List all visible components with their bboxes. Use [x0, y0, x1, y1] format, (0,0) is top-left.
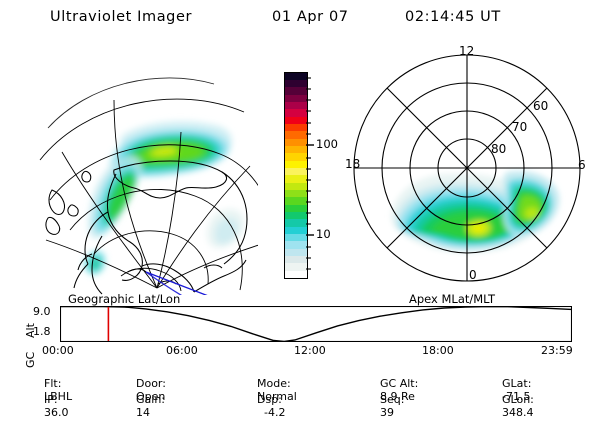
status-dsp: Dsp: -4.2	[243, 380, 285, 432]
mlt-label-18: 18	[345, 157, 360, 171]
colorbar-band-9	[285, 205, 307, 212]
colorbar-band-2	[285, 256, 307, 263]
colorbar-band-16	[285, 153, 307, 160]
colorbar-band-7	[285, 219, 307, 226]
colorbar-band-17	[285, 146, 307, 153]
colorbar-band-27	[285, 73, 307, 80]
colorbar-band-10	[285, 197, 307, 204]
colorbar-band-11	[285, 190, 307, 197]
header-date: 01 Apr 07	[272, 9, 349, 25]
status-glon: GLon: 348.4	[488, 380, 534, 432]
orbit-xtick-1: 06:00	[166, 344, 198, 357]
status-glon-value: 348.4	[502, 406, 534, 419]
mlt-label-0: 0	[469, 268, 477, 282]
colorbar-band-1	[285, 263, 307, 270]
status-seq-value: 39	[380, 406, 394, 419]
orbit-ytick-min: 1.8	[33, 325, 51, 338]
colorbar-gradient	[284, 72, 308, 279]
colorbar-band-4	[285, 241, 307, 248]
orbit-xtick-2: 12:00	[294, 344, 326, 357]
status-ip: IP: 36.0	[30, 380, 69, 432]
status-ip-value: 36.0	[44, 406, 69, 419]
geographic-polar-plot[interactable]	[18, 40, 258, 295]
colorbar-band-24	[285, 95, 307, 102]
header-instrument: Ultraviolet Imager	[50, 9, 192, 25]
colorbar-band-22	[285, 109, 307, 116]
colorbar-band-6	[285, 227, 307, 234]
mlat-label-70: 70	[512, 120, 527, 134]
colorbar-band-14	[285, 168, 307, 175]
colorbar-band-21	[285, 117, 307, 124]
status-dsp-value: -4.2	[257, 406, 285, 419]
colorbar-band-0	[285, 271, 307, 278]
mlat-label-60: 60	[533, 99, 548, 113]
apex-polar-plot[interactable]	[340, 40, 595, 295]
mlt-label-12: 12	[459, 44, 474, 58]
colorbar-band-20	[285, 124, 307, 131]
colorbar-band-23	[285, 102, 307, 109]
status-gain: Gain: 14	[122, 380, 165, 432]
mlat-label-80: 80	[491, 142, 506, 156]
colorbar-tick-100: 100	[316, 137, 338, 151]
colorbar-band-25	[285, 87, 307, 94]
colorbar-band-26	[285, 80, 307, 87]
apex-grid	[354, 55, 580, 281]
status-gain-value: 14	[136, 406, 150, 419]
orbit-xtick-3: 18:00	[422, 344, 454, 357]
colorbar-band-8	[285, 212, 307, 219]
orbit-xtick-0: 00:00	[42, 344, 74, 357]
header-time: 02:14:45 UT	[405, 9, 501, 25]
colorbar-band-12	[285, 183, 307, 190]
colorbar-band-18	[285, 139, 307, 146]
colorbar-band-3	[285, 249, 307, 256]
orbit-altitude-strip[interactable]: Alt GC 9.0 1.8 00:00 06:00 12:00 18:00 2…	[6, 300, 594, 358]
colorbar-band-19	[285, 131, 307, 138]
colorbar[interactable]: photon cm-2s-1 100 10	[258, 70, 348, 285]
colorbar-tick-10: 10	[316, 227, 331, 241]
orbit-ytick-max: 9.0	[33, 305, 51, 318]
status-seq: Seq: 39	[366, 380, 404, 432]
orbit-xtick-4: 23:59	[541, 344, 573, 357]
colorbar-band-15	[285, 161, 307, 168]
status-bar: Flt: LBHL IP: 36.0 Door: Open Gain: 14 M…	[0, 364, 600, 398]
colorbar-band-5	[285, 234, 307, 241]
orbit-altitude-chart	[60, 306, 572, 342]
mlt-label-6: 6	[578, 158, 586, 172]
aurora-oval-apex	[391, 171, 559, 253]
colorbar-band-13	[285, 175, 307, 182]
